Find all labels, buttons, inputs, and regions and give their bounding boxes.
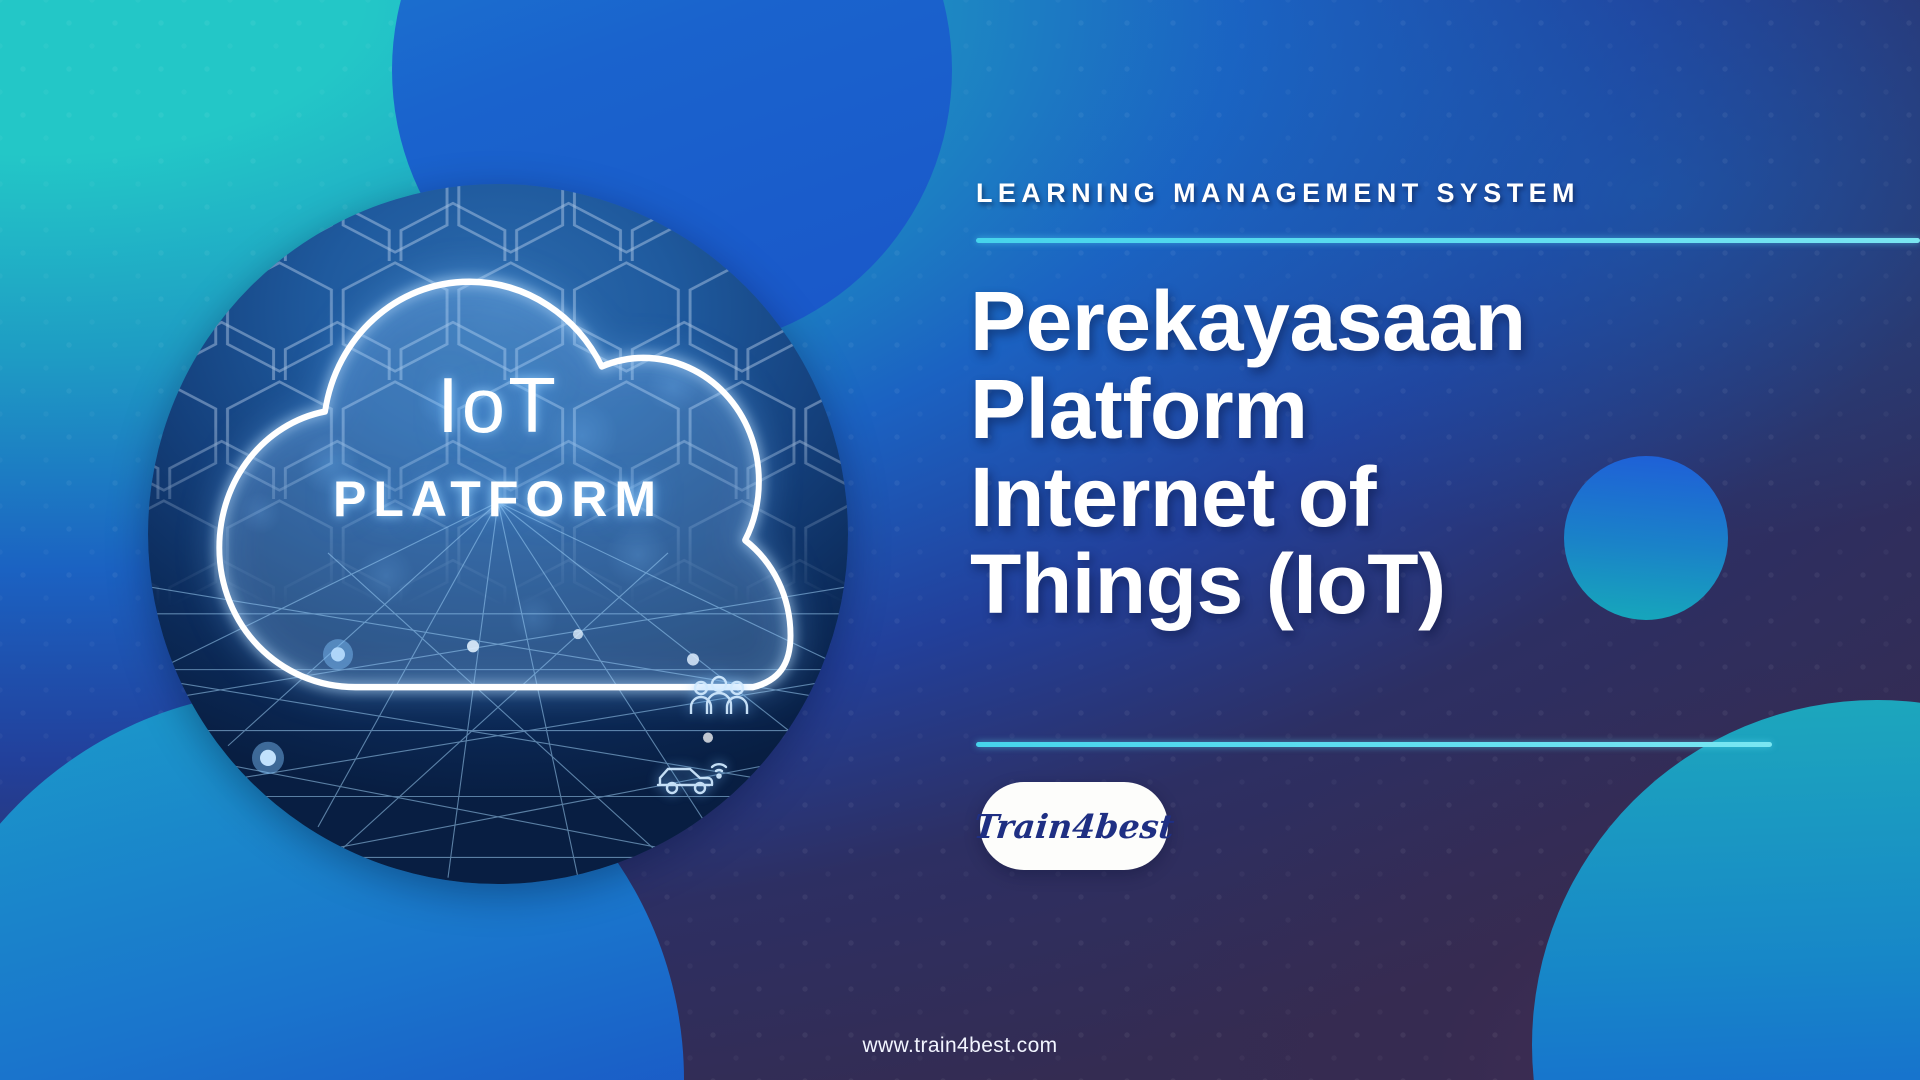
banner-canvas: IoT PLATFORM LEARNING MANAGEMENT SYSTEM …: [0, 0, 1920, 1080]
logo-wordmark: Train4best: [972, 807, 1176, 846]
people-group-icon: [687, 674, 751, 722]
headline-line-1: Perekayasaan: [970, 278, 1790, 366]
divider-top: [976, 238, 1920, 243]
headline-line-2: Platform: [970, 366, 1790, 454]
headline-line-3: Internet of: [970, 454, 1790, 542]
footer-url[interactable]: www.train4best.com: [0, 1034, 1920, 1058]
cloud-icon: [162, 226, 834, 730]
divider-bottom: [976, 742, 1772, 747]
headline-line-4: Things (IoT): [970, 541, 1790, 629]
connected-car-icon: [652, 751, 732, 797]
text-column: LEARNING MANAGEMENT SYSTEM Perekayasaan …: [976, 0, 1836, 1080]
train4best-logo[interactable]: Train4best: [980, 782, 1168, 870]
page-title: Perekayasaan Platform Internet of Things…: [970, 278, 1790, 629]
eyebrow-label: LEARNING MANAGEMENT SYSTEM: [976, 178, 1580, 209]
iot-platform-image: IoT PLATFORM: [148, 184, 848, 884]
